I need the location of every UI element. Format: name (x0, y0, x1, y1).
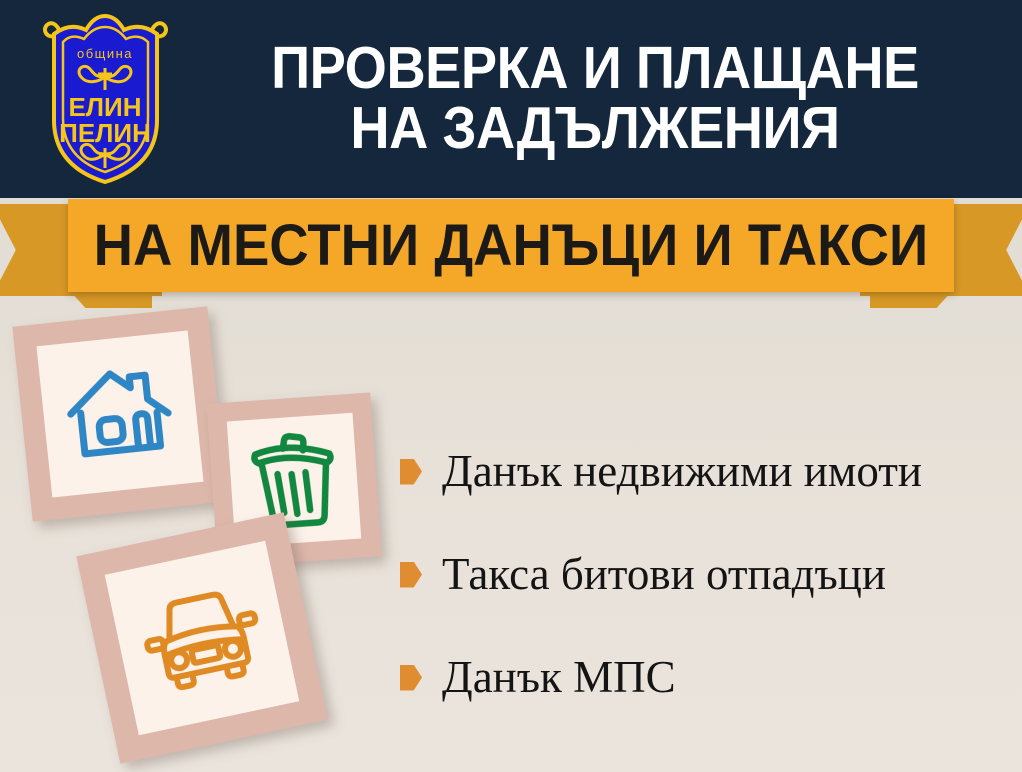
page-title: ПРОВЕРКА И ПЛАЩАНЕ НА ЗАДЪЛЖЕНИЯ (213, 18, 977, 178)
list-item: Данък недвижими имоти (400, 420, 1000, 523)
logo-top-label: община (77, 46, 133, 61)
arrow-bullet-icon (400, 665, 422, 691)
stamp-inner-car (105, 541, 300, 736)
page-title-line2: НА ЗАДЪЛЖЕНИЯ (350, 98, 839, 158)
page-title-line1: ПРОВЕРКА И ПЛАЩАНЕ (271, 38, 919, 98)
header-bar: община ЕЛИН ПЕЛИН ПРОВЕРКА И ПЛАЩАНЕ НА … (0, 0, 1022, 198)
list-item: Данък МПС (400, 626, 1000, 729)
list-item-label: Данък недвижими имоти (442, 449, 922, 494)
trash-bin-icon (245, 429, 343, 531)
municipality-logo: община ЕЛИН ПЕЛИН (38, 8, 173, 188)
stamp-card-car (76, 512, 327, 763)
arrow-bullet-icon (400, 562, 422, 588)
list-item: Такса битови отпадъци (400, 523, 1000, 626)
logo-name-line2: ПЕЛИН (59, 118, 151, 148)
stamp-inner-house (36, 330, 203, 497)
coat-of-arms-icon: община ЕЛИН ПЕЛИН (38, 8, 173, 188)
stamp-card-house (12, 306, 227, 521)
list-item-label: Такса битови отпадъци (442, 552, 886, 597)
subtitle-ribbon: НА МЕСТНИ ДАНЪЦИ И ТАКСИ (0, 190, 1022, 320)
poster-root: община ЕЛИН ПЕЛИН ПРОВЕРКА И ПЛАЩАНЕ НА … (0, 0, 1022, 772)
services-list: Данък недвижими имоти Такса битови отпад… (400, 420, 1000, 729)
house-icon (60, 359, 180, 470)
list-item-label: Данък МПС (442, 655, 676, 700)
arrow-bullet-icon (400, 459, 422, 485)
car-icon (133, 577, 271, 700)
ribbon-label: НА МЕСТНИ ДАНЪЦИ И ТАКСИ (94, 217, 929, 275)
ribbon-banner: НА МЕСТНИ ДАНЪЦИ И ТАКСИ (68, 199, 954, 292)
